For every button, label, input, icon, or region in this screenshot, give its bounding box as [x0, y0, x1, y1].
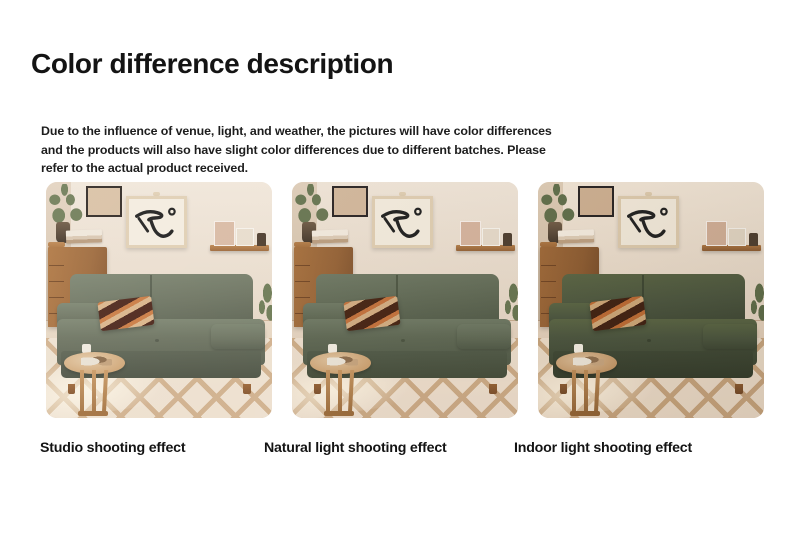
table-foot	[324, 411, 355, 416]
caption-indoor-light: Indoor light shooting effect	[514, 440, 692, 456]
sofa-right-arm	[211, 324, 265, 349]
sofa-leg	[243, 384, 250, 394]
table-leg	[102, 370, 109, 416]
scene-living-room	[46, 182, 272, 418]
tabletop-items	[573, 353, 604, 367]
shelf-picture-frame	[482, 228, 500, 246]
dresser-top	[540, 242, 557, 247]
table-leg	[584, 370, 588, 416]
shelf-picture-frame	[236, 228, 254, 246]
shelf-picture-frame	[706, 221, 726, 246]
backrest-seam	[396, 275, 398, 297]
photo-captions: Studio shooting effect Natural light sho…	[0, 440, 809, 466]
seat-tuft	[647, 339, 651, 342]
caption-natural-light: Natural light shooting effect	[264, 440, 447, 456]
product-photo-indoor-light[interactable]	[538, 182, 764, 418]
backrest-seam	[150, 275, 152, 297]
book-stack	[558, 230, 595, 244]
backrest-seam	[642, 275, 644, 297]
sofa-leg	[489, 384, 496, 394]
abstract-line-art-icon	[621, 199, 676, 245]
shelf-ornament	[749, 233, 758, 246]
tabletop-items	[327, 353, 358, 367]
product-photo-gallery	[46, 182, 765, 418]
scene-living-room	[292, 182, 518, 418]
page-title: Color difference description	[31, 48, 451, 80]
abstract-wall-art	[126, 196, 187, 248]
table-leg	[80, 370, 84, 416]
shelf-ornament	[503, 233, 512, 246]
drawer-divider	[541, 265, 556, 267]
shelf-picture-frame	[460, 221, 480, 246]
table-leg	[92, 370, 96, 416]
table-leg	[326, 370, 330, 416]
page-root: Color difference description Due to the …	[0, 0, 809, 536]
abstract-wall-art	[372, 196, 433, 248]
tabletop-items	[81, 353, 112, 367]
photo-panel-studio[interactable]	[46, 182, 272, 418]
seat-tuft	[401, 339, 405, 342]
scene-living-room	[538, 182, 764, 418]
seat-tuft	[155, 339, 159, 342]
abstract-line-art-icon	[375, 199, 430, 245]
abstract-wall-art	[618, 196, 679, 248]
product-photo-natural-light[interactable]	[292, 182, 518, 418]
product-photo-studio[interactable]	[46, 182, 272, 418]
color-difference-description-text: Due to the influence of venue, light, an…	[41, 122, 571, 177]
caption-studio: Studio shooting effect	[40, 440, 185, 456]
dresser-top	[48, 242, 65, 247]
abstract-line-art-icon	[129, 199, 184, 245]
photo-panel-natural-light[interactable]	[292, 182, 518, 418]
book-stack	[312, 230, 349, 244]
round-side-table	[64, 352, 125, 416]
photo-panel-indoor-light[interactable]	[538, 182, 764, 418]
drawer-divider	[295, 265, 310, 267]
small-framed-art	[578, 186, 614, 218]
dresser-top	[294, 242, 311, 247]
sofa-right-arm	[457, 324, 511, 349]
sofa-right-arm	[703, 324, 757, 349]
book-stack	[66, 230, 103, 244]
table-leg	[338, 370, 342, 416]
shelf-picture-frame	[214, 221, 234, 246]
round-side-table	[310, 352, 371, 416]
table-leg	[594, 370, 601, 416]
table-foot	[78, 411, 109, 416]
shelf-ornament	[257, 233, 266, 246]
round-side-table	[556, 352, 617, 416]
shelf-picture-frame	[728, 228, 746, 246]
small-framed-art	[332, 186, 368, 218]
sofa-leg	[735, 384, 742, 394]
drawer-divider	[49, 265, 64, 267]
small-framed-art	[86, 186, 122, 218]
table-foot	[570, 411, 601, 416]
table-leg	[348, 370, 355, 416]
table-leg	[572, 370, 576, 416]
